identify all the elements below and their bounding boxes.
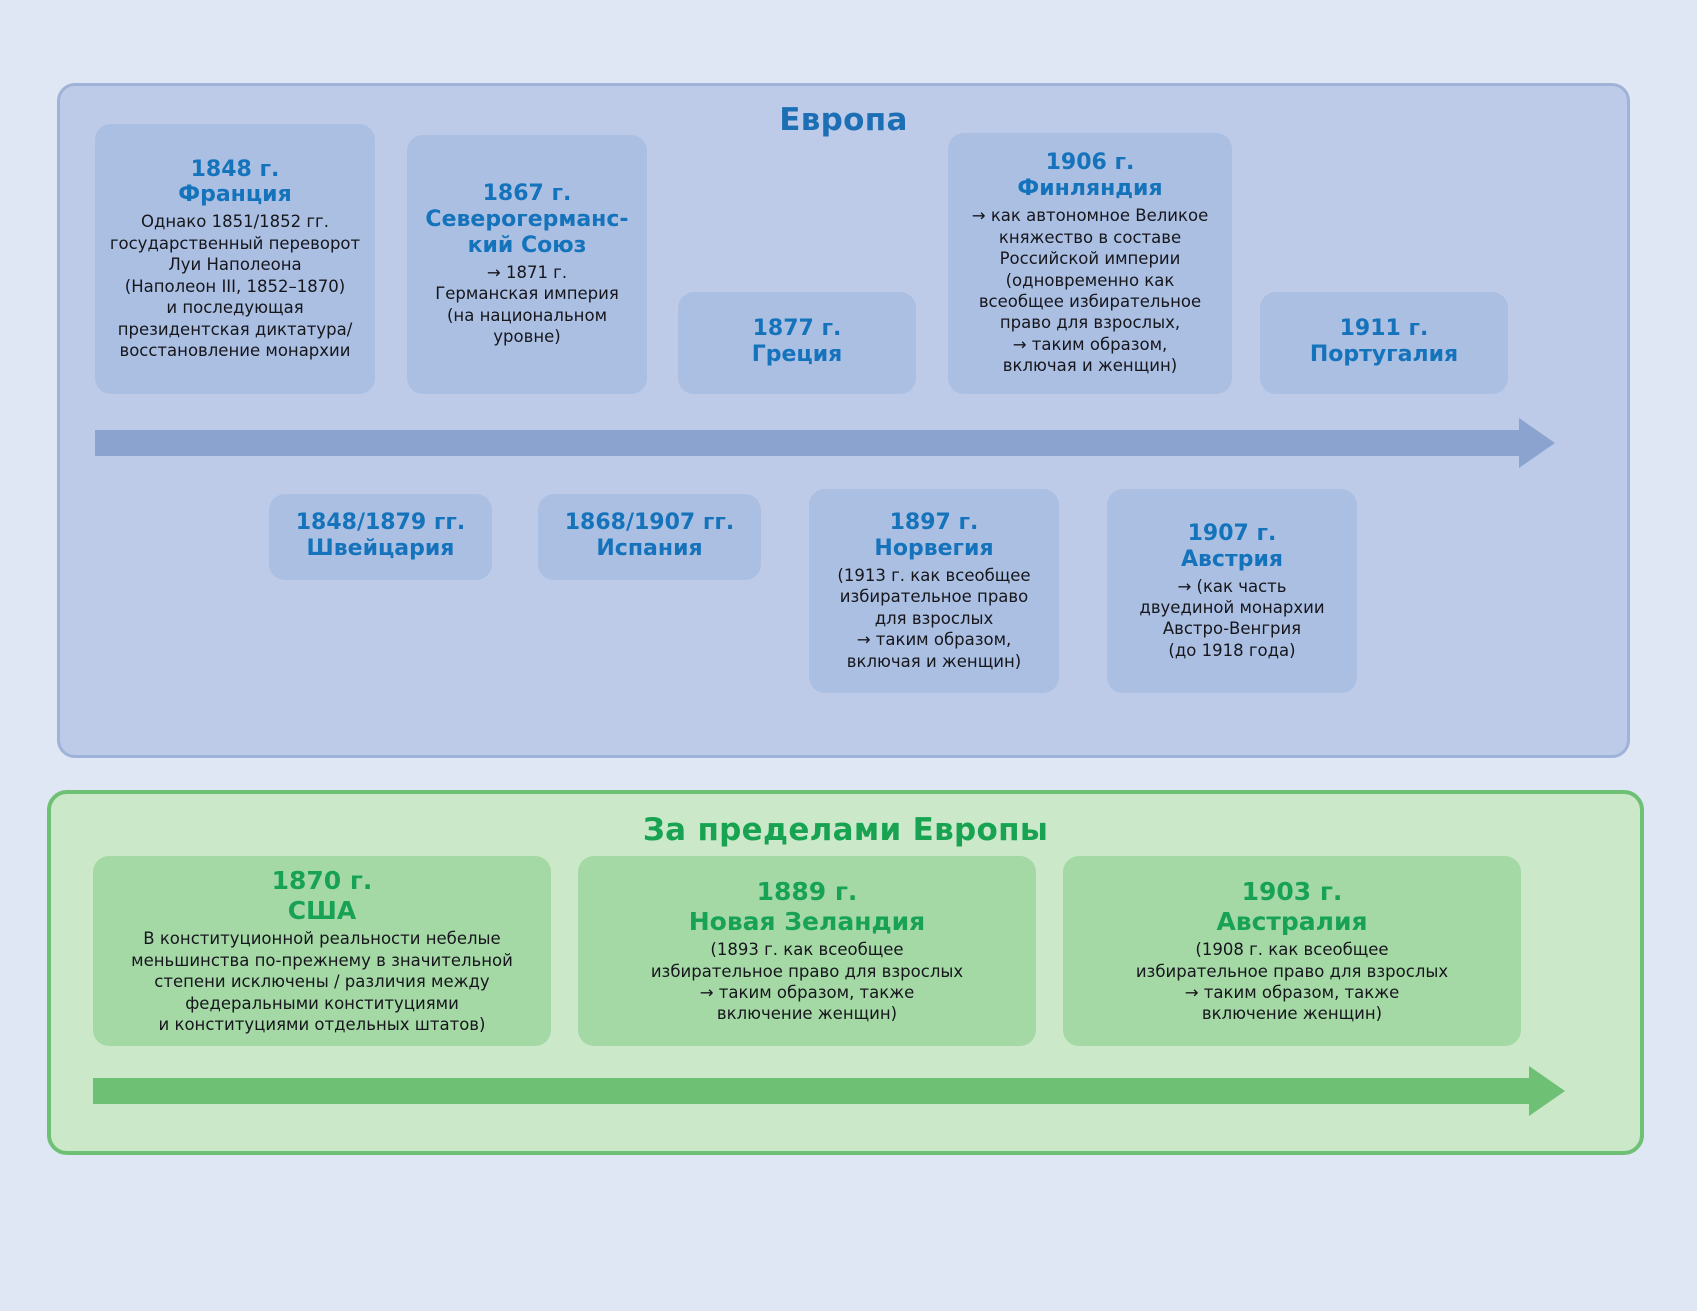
event-card-austria: 1907 г. Австрия → (как часть двуединой м… <box>1107 489 1357 693</box>
card-country: Португалия <box>1310 342 1458 368</box>
event-card-north-german-confederation: 1867 г. Северогерманс- кий Союз → 1871 г… <box>407 135 647 394</box>
card-year: 1867 г. <box>483 181 572 207</box>
card-body: → как автономное Великое княжество в сос… <box>972 205 1208 377</box>
arrow-shaft <box>95 430 1519 456</box>
card-country: Франция <box>178 182 291 208</box>
card-year: 1870 г. <box>272 866 373 896</box>
event-card-spain: 1868/1907 гг. Испания <box>538 494 761 580</box>
arrow-head <box>1519 418 1555 468</box>
card-body: (1908 г. как всеобщее избирательное прав… <box>1136 939 1448 1025</box>
card-country: США <box>288 896 357 926</box>
event-card-norway: 1897 г. Норвегия (1913 г. как всеобщее и… <box>809 489 1059 693</box>
card-body: В конституционной реальности небелые мен… <box>131 928 513 1035</box>
card-body: → (как часть двуединой монархии Австро-В… <box>1139 576 1324 662</box>
event-card-australia: 1903 г. Австралия (1908 г. как всеобщее … <box>1063 856 1521 1046</box>
card-year: 1897 г. <box>890 510 979 536</box>
card-year: 1906 г. <box>1046 150 1135 176</box>
event-card-finland: 1906 г. Финляндия → как автономное Велик… <box>948 133 1232 394</box>
card-year: 1848/1879 гг. <box>296 510 466 536</box>
card-country: Австралия <box>1216 907 1367 937</box>
card-country: Новая Зеландия <box>689 907 925 937</box>
card-year: 1848 г. <box>191 157 280 183</box>
outside-europe-timeline-arrow <box>93 1066 1565 1116</box>
europe-timeline-arrow <box>95 418 1555 468</box>
arrow-shaft <box>93 1078 1529 1104</box>
card-country: Норвегия <box>874 536 993 562</box>
card-year: 1877 г. <box>753 316 842 342</box>
card-year: 1907 г. <box>1188 521 1277 547</box>
card-year: 1889 г. <box>757 877 858 907</box>
card-year: 1903 г. <box>1242 877 1343 907</box>
card-country: Испания <box>596 536 702 562</box>
arrow-head <box>1529 1066 1565 1116</box>
card-body: (1913 г. как всеобщее избирательное прав… <box>837 565 1030 672</box>
card-country: Греция <box>752 342 843 368</box>
infographic-canvas: Европа 1848 г. Франция Однако 1851/1852 … <box>0 0 1697 1311</box>
event-card-greece: 1877 г. Греция <box>678 292 916 394</box>
card-country: Финляндия <box>1017 176 1162 202</box>
card-country: Швейцария <box>307 536 455 562</box>
event-card-switzerland: 1848/1879 гг. Швейцария <box>269 494 492 580</box>
card-country: Северогерманс- кий Союз <box>419 207 635 259</box>
card-body: Однако 1851/1852 гг. государственный пер… <box>110 211 360 361</box>
outside-europe-panel-title: За пределами Европы <box>51 812 1640 848</box>
card-body: (1893 г. как всеобщее избирательное прав… <box>651 939 963 1025</box>
event-card-new-zealand: 1889 г. Новая Зеландия (1893 г. как всео… <box>578 856 1036 1046</box>
event-card-portugal: 1911 г. Португалия <box>1260 292 1508 394</box>
outside-europe-panel: За пределами Европы 1870 г. США В консти… <box>47 790 1644 1155</box>
event-card-usa: 1870 г. США В конституционной реальности… <box>93 856 551 1046</box>
card-country: Австрия <box>1181 547 1283 573</box>
event-card-france: 1848 г. Франция Однако 1851/1852 гг. гос… <box>95 124 375 394</box>
europe-panel: Европа 1848 г. Франция Однако 1851/1852 … <box>57 83 1630 758</box>
card-year: 1868/1907 гг. <box>565 510 735 536</box>
card-year: 1911 г. <box>1340 316 1429 342</box>
card-body: → 1871 г. Германская империя (на национа… <box>435 262 619 348</box>
